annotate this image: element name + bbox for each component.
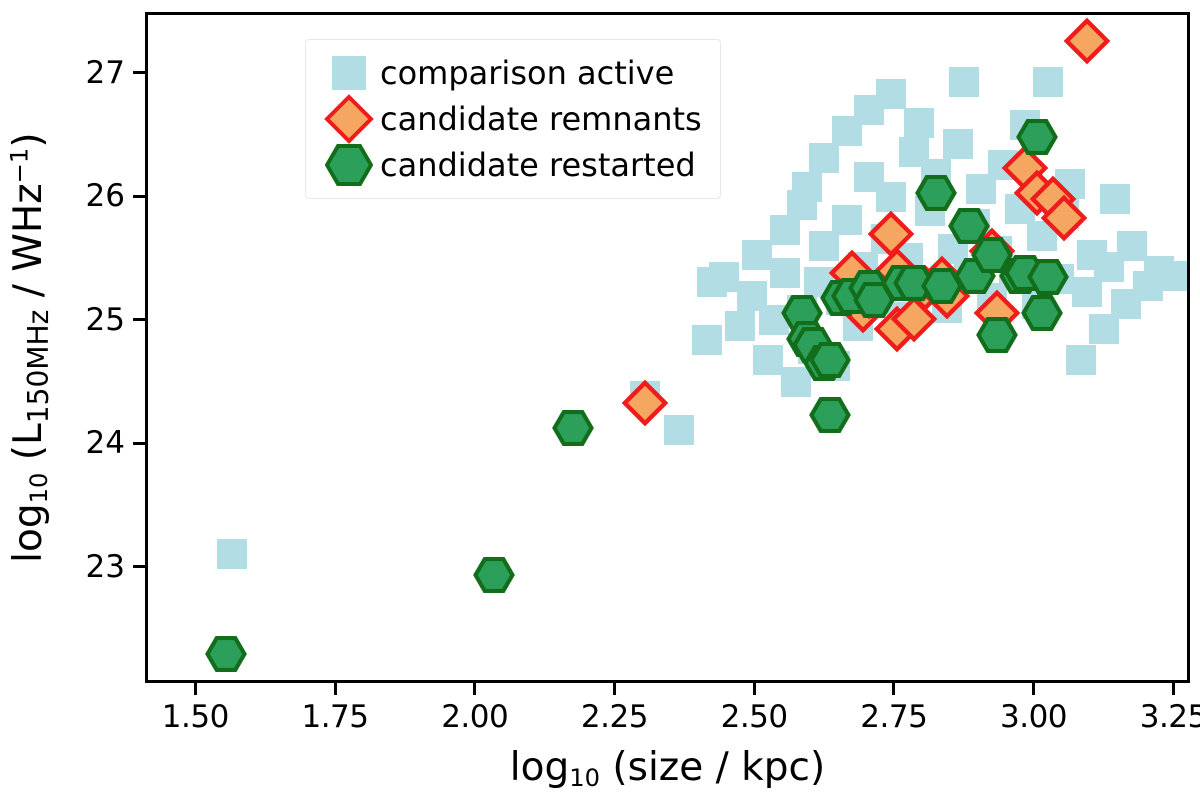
scatter-point-square xyxy=(949,67,979,97)
scatter-point-square xyxy=(1033,67,1063,97)
x-tick-label-2.50: 2.50 xyxy=(721,699,788,735)
x-tick-label-2.25: 2.25 xyxy=(581,699,648,735)
diamond-icon xyxy=(318,94,380,144)
scatter-point-square xyxy=(753,345,783,375)
x-tick-1.50 xyxy=(194,683,197,695)
x-tick-label-3.00: 3.00 xyxy=(1000,699,1067,735)
scatter-point-square xyxy=(904,108,934,138)
y-tick-23 xyxy=(133,565,145,568)
plot-area: comparison active candidate remnants can… xyxy=(145,12,1190,683)
y-tick-27 xyxy=(133,71,145,74)
legend-item-candidate-restarted[interactable]: candidate restarted xyxy=(318,142,702,188)
scatter-point-square xyxy=(876,79,906,109)
hexagon-icon xyxy=(318,143,380,187)
legend-item-candidate-remnants[interactable]: candidate remnants xyxy=(318,96,702,142)
x-tick-label-1.50: 1.50 xyxy=(162,699,229,735)
scatter-point-square xyxy=(809,143,839,173)
scatter-point-hexagon xyxy=(473,556,515,593)
y-tick-26 xyxy=(133,195,145,198)
y-tick-label-26: 26 xyxy=(86,178,125,214)
scatter-point-hexagon xyxy=(1021,294,1063,331)
x-tick-3.00 xyxy=(1032,683,1035,695)
scatter-point-square xyxy=(1100,184,1130,214)
y-tick-label-27: 27 xyxy=(86,55,125,91)
x-tick-1.75 xyxy=(334,683,337,695)
scatter-point-square xyxy=(709,262,739,292)
legend-label-candidate-remnants: candidate remnants xyxy=(380,100,702,138)
scatter-point-diamond xyxy=(623,381,667,425)
scatter-point-hexagon xyxy=(976,317,1018,354)
scatter-point-diamond xyxy=(1042,196,1086,240)
scatter-point-hexagon xyxy=(552,409,594,446)
scatter-point-square xyxy=(217,539,247,569)
x-tick-2.75 xyxy=(892,683,895,695)
scatter-point-hexagon xyxy=(809,397,851,434)
scatter-point-diamond xyxy=(1065,19,1109,63)
square-icon xyxy=(318,54,380,92)
figure-canvas: log10 (L150MHz / WHz−1) 2324252627 compa… xyxy=(0,0,1200,806)
scatter-point-square xyxy=(692,325,722,355)
scatter-point-square xyxy=(664,415,694,445)
scatter-point-square xyxy=(943,129,973,159)
y-tick-25 xyxy=(133,318,145,321)
scatter-point-square xyxy=(742,240,772,270)
scatter-point-square xyxy=(876,182,906,212)
scatter-point-hexagon xyxy=(809,341,851,378)
legend: comparison active candidate remnants can… xyxy=(305,39,721,199)
scatter-point-hexagon xyxy=(915,174,957,211)
scatter-point-hexagon xyxy=(1016,119,1058,156)
legend-item-comparison-active[interactable]: comparison active xyxy=(318,50,702,96)
x-axis-label: log10 (size / kpc) xyxy=(145,745,1190,792)
scatter-point-square xyxy=(770,258,800,288)
scatter-point-square xyxy=(1117,231,1147,261)
scatter-point-square xyxy=(1161,261,1190,291)
y-axis-label: log10 (L150MHz / WHz−1) xyxy=(5,132,54,562)
legend-label-candidate-restarted: candidate restarted xyxy=(380,146,696,184)
legend-label-comparison-active: comparison active xyxy=(380,54,674,92)
y-tick-label-24: 24 xyxy=(86,425,125,461)
scatter-point-square xyxy=(792,172,822,202)
scatter-point-hexagon xyxy=(205,635,247,672)
x-tick-label-2.75: 2.75 xyxy=(860,699,927,735)
y-tick-24 xyxy=(133,442,145,445)
x-tick-label-3.25: 3.25 xyxy=(1140,699,1200,735)
y-tick-label-23: 23 xyxy=(86,549,125,585)
x-tick-3.25 xyxy=(1172,683,1175,695)
scatter-point-square xyxy=(725,311,755,341)
y-tick-label-25: 25 xyxy=(86,302,125,338)
x-tick-2.25 xyxy=(613,683,616,695)
scatter-point-square xyxy=(832,205,862,235)
x-tick-2.00 xyxy=(473,683,476,695)
x-tick-label-2.00: 2.00 xyxy=(441,699,508,735)
scatter-point-square xyxy=(1066,345,1096,375)
scatter-point-hexagon xyxy=(1027,258,1069,295)
x-tick-label-1.75: 1.75 xyxy=(301,699,368,735)
y-axis-label-container: log10 (L150MHz / WHz−1) xyxy=(0,0,60,695)
x-tick-2.50 xyxy=(753,683,756,695)
